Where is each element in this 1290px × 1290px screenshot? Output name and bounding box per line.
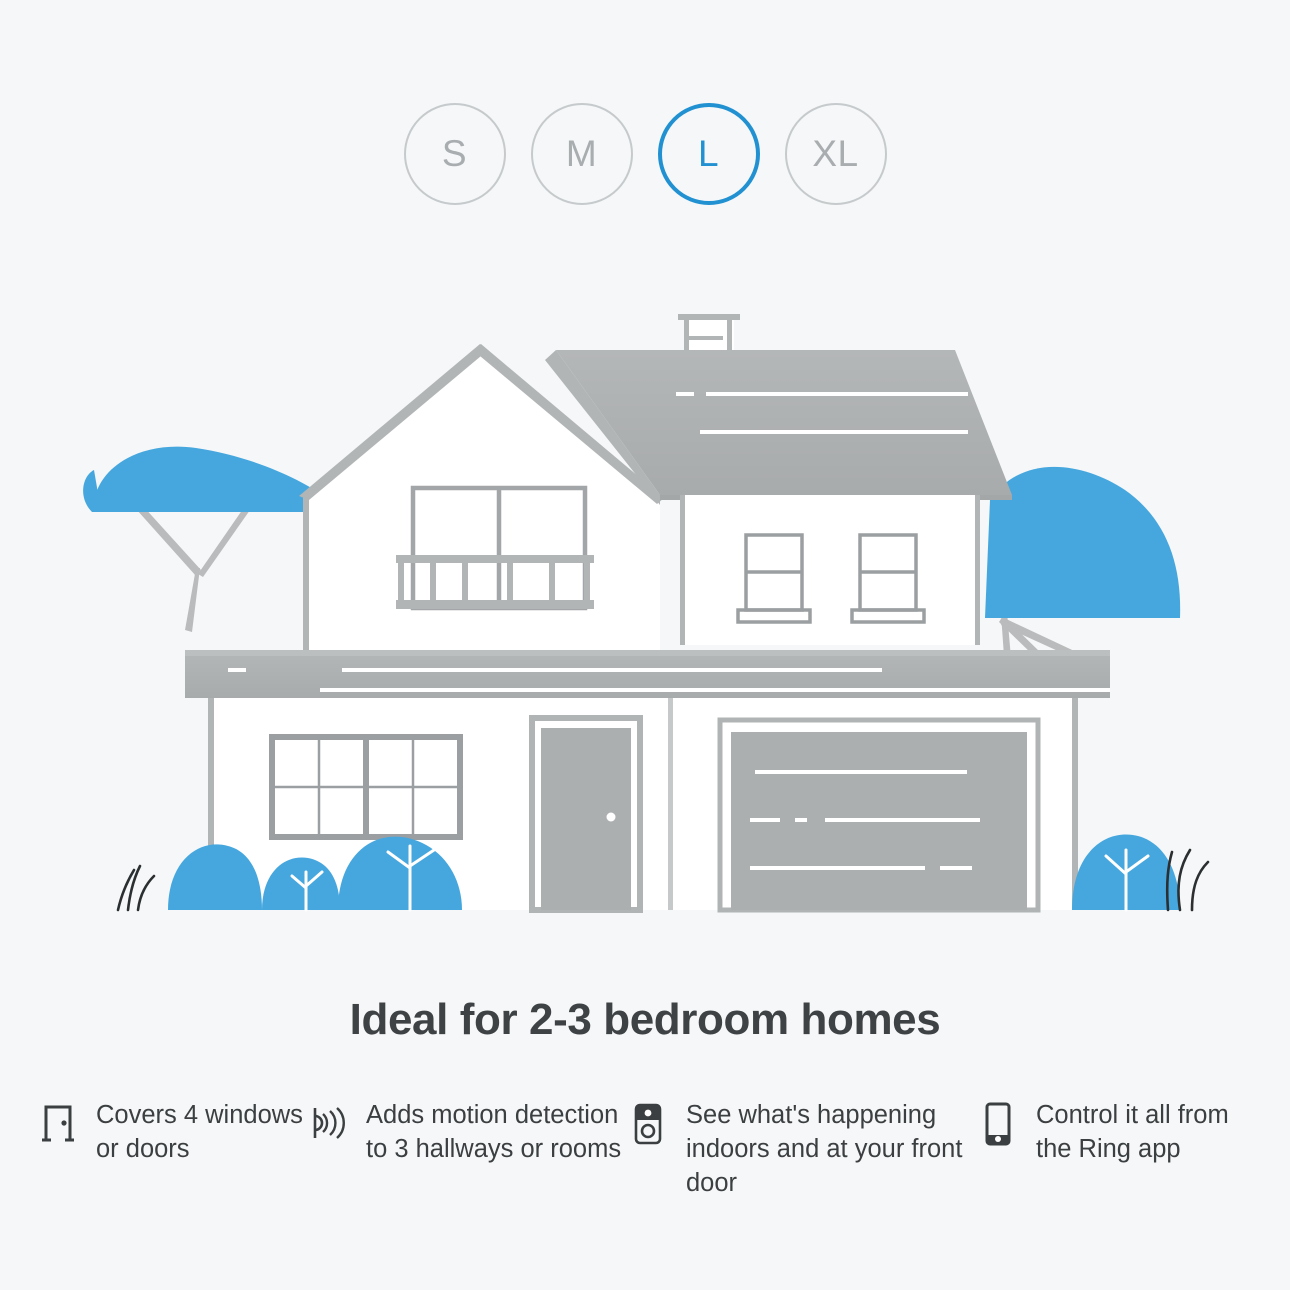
size-option-s[interactable]: S bbox=[404, 103, 506, 205]
garage-door bbox=[720, 720, 1038, 910]
door-contact-sensor-icon bbox=[38, 1098, 78, 1150]
feature-label: See what's happening indoors and at your… bbox=[686, 1098, 978, 1200]
size-option-m[interactable]: M bbox=[531, 103, 633, 205]
left-tree bbox=[83, 447, 330, 632]
feature-item-door-coverage: Covers 4 windows or doors bbox=[38, 1098, 308, 1166]
feature-list: Covers 4 windows or doors Adds motion de… bbox=[38, 1098, 1258, 1200]
page-title: Ideal for 2-3 bedroom homes bbox=[0, 995, 1290, 1045]
size-option-l[interactable]: L bbox=[658, 103, 760, 205]
front-door bbox=[532, 718, 640, 910]
right-tree bbox=[985, 467, 1180, 670]
two-story-house-illustration bbox=[0, 300, 1290, 950]
lower-roof bbox=[185, 650, 1110, 698]
feature-item-video-doorbell: See what's happening indoors and at your… bbox=[628, 1098, 978, 1200]
feature-item-ring-app: Control it all from the Ring app bbox=[978, 1098, 1243, 1166]
home-size-selector[interactable]: S M L XL bbox=[0, 103, 1290, 205]
size-option-xl[interactable]: XL bbox=[785, 103, 887, 205]
door-knob bbox=[607, 813, 616, 822]
motion-detector-icon bbox=[308, 1098, 348, 1150]
size-option-label: M bbox=[566, 133, 597, 175]
feature-label: Control it all from the Ring app bbox=[1036, 1098, 1243, 1166]
feature-item-motion-detection: Adds motion detection to 3 hallways or r… bbox=[308, 1098, 628, 1166]
size-option-label: L bbox=[698, 133, 719, 175]
size-option-label: XL bbox=[812, 133, 858, 175]
feature-label: Covers 4 windows or doors bbox=[96, 1098, 308, 1166]
feature-label: Adds motion detection to 3 hallways or r… bbox=[366, 1098, 628, 1166]
size-option-label: S bbox=[442, 133, 467, 175]
upper-right-wall bbox=[680, 495, 980, 645]
smartphone-icon bbox=[978, 1098, 1018, 1150]
video-doorbell-icon bbox=[628, 1098, 668, 1150]
